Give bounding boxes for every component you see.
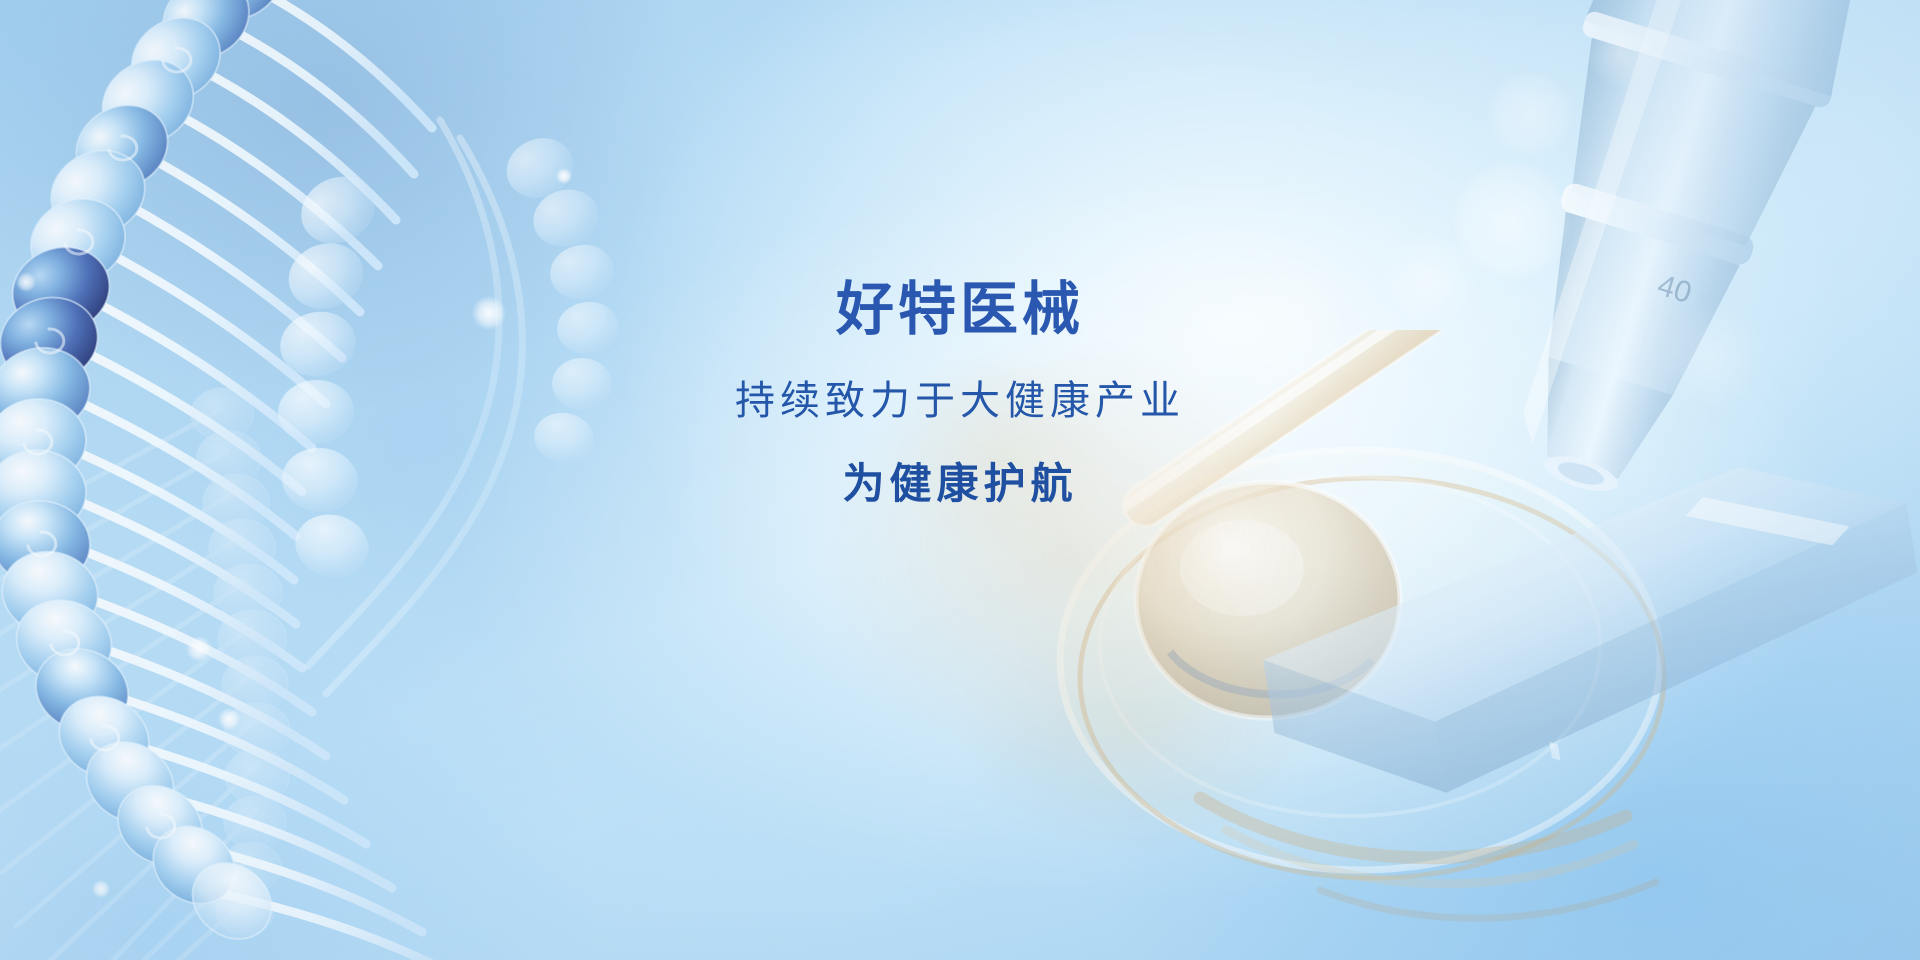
banner-tagline: 为健康护航 (0, 459, 1920, 509)
page-title: 好特医械 (0, 278, 1920, 343)
banner-text-block: 好特医械 持续致力于大健康产业 为健康护航 (0, 278, 1920, 509)
hero-banner: 40 (0, 0, 1920, 960)
banner-subtitle: 持续致力于大健康产业 (0, 377, 1920, 425)
